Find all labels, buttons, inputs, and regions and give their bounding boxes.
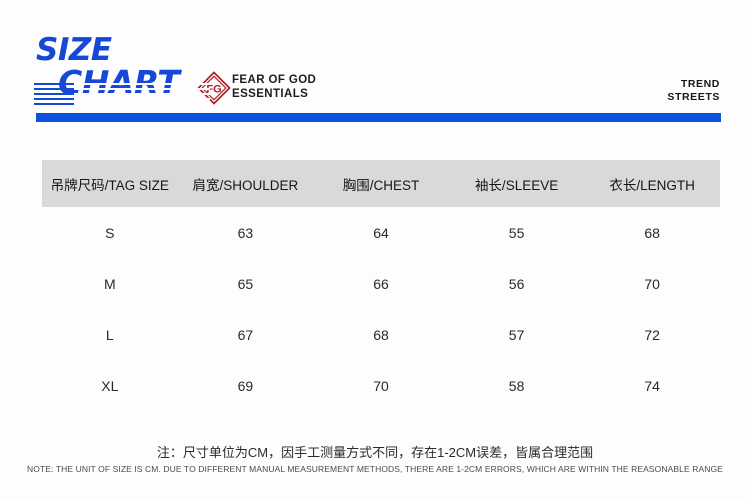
wordmark-size-text: SIZE bbox=[36, 35, 112, 66]
brand-name-line1: FEAR OF GOD bbox=[232, 73, 316, 87]
cell-length: 74 bbox=[584, 360, 720, 411]
cell-chest: 66 bbox=[313, 258, 449, 309]
column-header-shoulder: 肩宽/SHOULDER bbox=[178, 160, 314, 207]
cell-length: 70 bbox=[584, 258, 720, 309]
cell-chest: 68 bbox=[313, 309, 449, 360]
table-header-row: 吊牌尺码/TAG SIZE 肩宽/SHOULDER 胸围/CHEST 袖长/SL… bbox=[42, 160, 720, 207]
cell-chest: 64 bbox=[313, 207, 449, 258]
store-name-line1: TREND bbox=[667, 78, 720, 91]
store-name-line2: STREETS bbox=[667, 91, 720, 104]
cell-sleeve: 55 bbox=[449, 207, 585, 258]
column-header-sleeve: 袖长/SLEEVE bbox=[449, 160, 585, 207]
cell-shoulder: 63 bbox=[178, 207, 314, 258]
cell-shoulder: 69 bbox=[178, 360, 314, 411]
fear-of-god-diamond-logo-icon: FG bbox=[196, 70, 232, 106]
cell-sleeve: 57 bbox=[449, 309, 585, 360]
cell-size: S bbox=[42, 207, 178, 258]
table-row: S 63 64 55 68 bbox=[42, 207, 720, 258]
cell-sleeve: 58 bbox=[449, 360, 585, 411]
cell-length: 68 bbox=[584, 207, 720, 258]
cell-length: 72 bbox=[584, 309, 720, 360]
table-row: M 65 66 56 70 bbox=[42, 258, 720, 309]
table-row: L 67 68 57 72 bbox=[42, 309, 720, 360]
size-chart-wordmark: SIZE CHART bbox=[36, 30, 206, 112]
table-row: XL 69 70 58 74 bbox=[42, 360, 720, 411]
size-chart-table: 吊牌尺码/TAG SIZE 肩宽/SHOULDER 胸围/CHEST 袖长/SL… bbox=[42, 160, 720, 411]
cell-chest: 70 bbox=[313, 360, 449, 411]
brand-name-line2: ESSENTIALS bbox=[232, 87, 316, 101]
cell-sleeve: 56 bbox=[449, 258, 585, 309]
column-header-length: 衣长/LENGTH bbox=[584, 160, 720, 207]
cell-size: M bbox=[42, 258, 178, 309]
wordmark-chart-group: CHART bbox=[58, 66, 179, 102]
svg-text:FG: FG bbox=[206, 83, 221, 95]
cell-size: XL bbox=[42, 360, 178, 411]
measurement-note-english: NOTE: THE UNIT OF SIZE IS CM. DUE TO DIF… bbox=[0, 464, 750, 474]
cell-size: L bbox=[42, 309, 178, 360]
column-header-chest: 胸围/CHEST bbox=[313, 160, 449, 207]
header-divider bbox=[36, 113, 721, 122]
cell-shoulder: 67 bbox=[178, 309, 314, 360]
wordmark-chart-text: CHART bbox=[58, 66, 179, 99]
measurement-note-chinese: 注：尺寸单位为CM，因手工测量方式不同，存在1-2CM误差，皆属合理范围 bbox=[0, 442, 750, 461]
brand-name: FEAR OF GOD ESSENTIALS bbox=[232, 73, 316, 101]
page-header: SIZE CHART FG FEAR OF GOD ESSENTIALS TRE… bbox=[0, 0, 750, 132]
store-name: TREND STREETS bbox=[667, 78, 720, 104]
cell-shoulder: 65 bbox=[178, 258, 314, 309]
column-header-tag-size: 吊牌尺码/TAG SIZE bbox=[42, 160, 178, 207]
